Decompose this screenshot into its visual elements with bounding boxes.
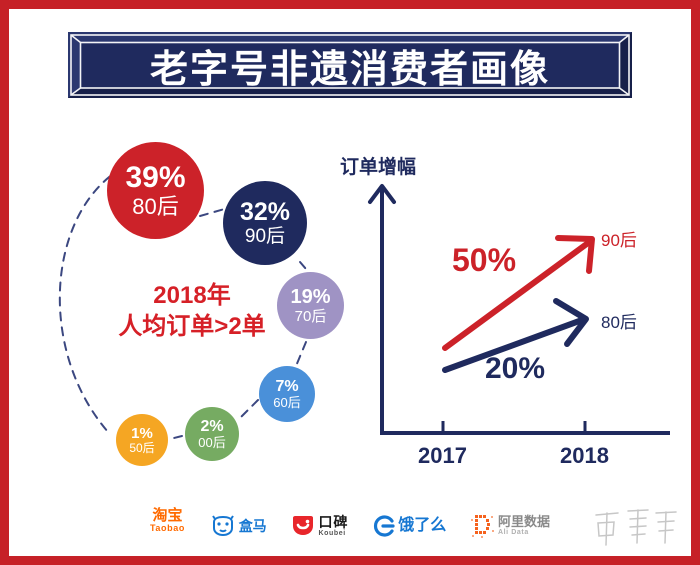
bubble-90hou: 32% 90后 (223, 181, 307, 265)
bubble-80hou-pct: 39% (125, 163, 185, 194)
eleme-e-icon (373, 515, 395, 537)
bubble-70hou-pct: 19% (290, 287, 330, 307)
logo-alidata-en: Ali Data (498, 529, 550, 537)
bubble-80hou: 39% 80后 (107, 142, 204, 239)
bubble-50hou: 1% 50后 (116, 414, 168, 466)
logo-koubei: 口碑 Koubei (291, 508, 348, 544)
logo-hema-words: 盒马 (239, 519, 267, 534)
logo-eleme: 饿了么 (373, 508, 446, 544)
logo-alidata: 阿里数据 Ali Data (471, 508, 550, 544)
page-title: 老字号非遗消费者画像 (68, 32, 632, 98)
logo-eleme-words: 饿了么 (398, 518, 446, 535)
bubble-90hou-gen: 90后 (245, 227, 285, 246)
bubble-70hou-gen: 70后 (295, 309, 327, 324)
bubble-50hou-gen: 50后 (129, 442, 154, 454)
logo-koubei-en: Koubei (318, 530, 348, 538)
bubble-60hou-gen: 60后 (273, 396, 300, 409)
partner-logo-bar: 淘宝 Taobao 盒马 (150, 505, 550, 547)
bubble-60hou-pct: 7% (275, 379, 298, 395)
average-orders-note-line1: 2018年 (92, 281, 292, 312)
average-orders-note: 2018年 人均订单>2单 (92, 281, 292, 342)
infographic-canvas: 老字号非遗消费者画像 39% 80后 32% 90后 19% 70后 7% 60… (0, 0, 700, 565)
series-label-90hou: 90后 (601, 226, 637, 251)
series-label-80hou: 80后 (601, 308, 637, 333)
bubble-00hou-gen: 00后 (198, 436, 225, 449)
logo-koubei-words: 口碑 Koubei (318, 515, 348, 537)
x-tick-2017: 2017 (418, 443, 467, 469)
alidata-pixel-icon (471, 513, 495, 539)
growth-label-90hou-pct: 50% (452, 242, 516, 279)
logo-alidata-cn: 阿里数据 (498, 515, 550, 529)
bubble-90hou-pct: 32% (240, 200, 290, 226)
average-orders-note-line2: 人均订单>2单 (92, 312, 292, 343)
logo-taobao-en: Taobao (150, 524, 185, 534)
logo-alidata-words: 阿里数据 Ali Data (498, 515, 550, 536)
bubble-00hou-pct: 2% (200, 419, 223, 435)
bubble-60hou: 7% 60后 (259, 366, 315, 422)
y-axis-label: 订单增幅 (340, 152, 416, 179)
x-tick-2018: 2018 (560, 443, 609, 469)
calligraphy-watermark (588, 505, 684, 551)
growth-label-80hou-pct: 20% (485, 352, 545, 386)
logo-taobao-cn: 淘宝 (152, 508, 182, 524)
bubble-80hou-gen: 80后 (132, 196, 178, 218)
bubble-00hou: 2% 00后 (185, 407, 239, 461)
koubei-smile-icon (291, 515, 315, 537)
logo-eleme-cn: 饿了么 (398, 518, 446, 535)
logo-koubei-cn: 口碑 (318, 515, 348, 530)
bubble-50hou-pct: 1% (131, 426, 153, 441)
hema-hippo-icon (210, 515, 236, 537)
title-banner: 老字号非遗消费者画像 (68, 32, 632, 98)
logo-taobao: 淘宝 Taobao (150, 508, 185, 544)
logo-hema: 盒马 (210, 508, 267, 544)
logo-hema-cn: 盒马 (239, 519, 267, 534)
